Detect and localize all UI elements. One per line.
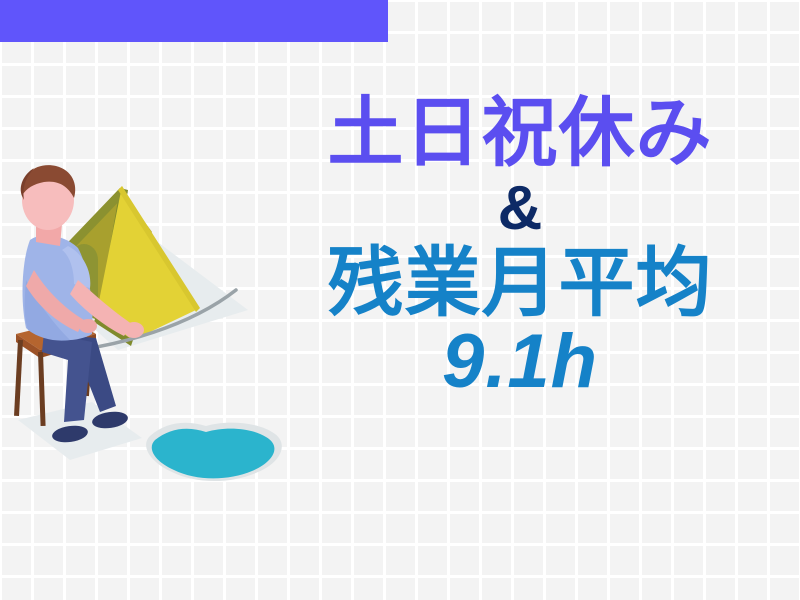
headline-ampersand: & xyxy=(255,178,785,240)
headline-holiday-text: 土日祝休み xyxy=(255,96,785,172)
fishing-pond xyxy=(146,423,282,481)
poster-canvas: 土日祝休み & 残業月平均 9.1h xyxy=(0,0,800,600)
headline-hours-value: 9.1h xyxy=(255,324,785,400)
headline-block: 土日祝休み & 残業月平均 9.1h xyxy=(255,96,785,400)
top-accent-bar xyxy=(0,0,388,42)
headline-overtime-text: 残業月平均 xyxy=(255,246,785,322)
